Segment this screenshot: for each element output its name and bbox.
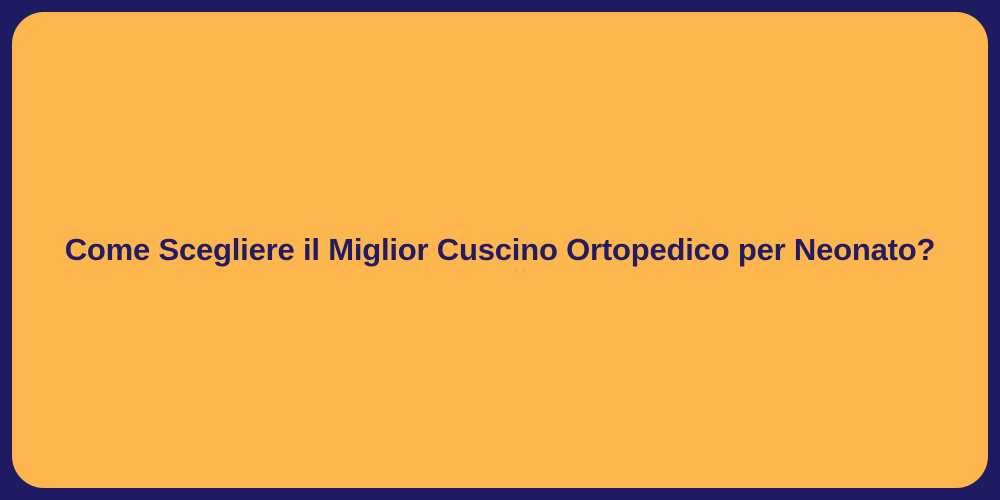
article-title-card: Come Scegliere il Miglior Cuscino Ortope… bbox=[0, 0, 1000, 500]
page-title: Come Scegliere il Miglior Cuscino Ortope… bbox=[29, 230, 972, 270]
title-card-panel: Come Scegliere il Miglior Cuscino Ortope… bbox=[12, 12, 988, 488]
